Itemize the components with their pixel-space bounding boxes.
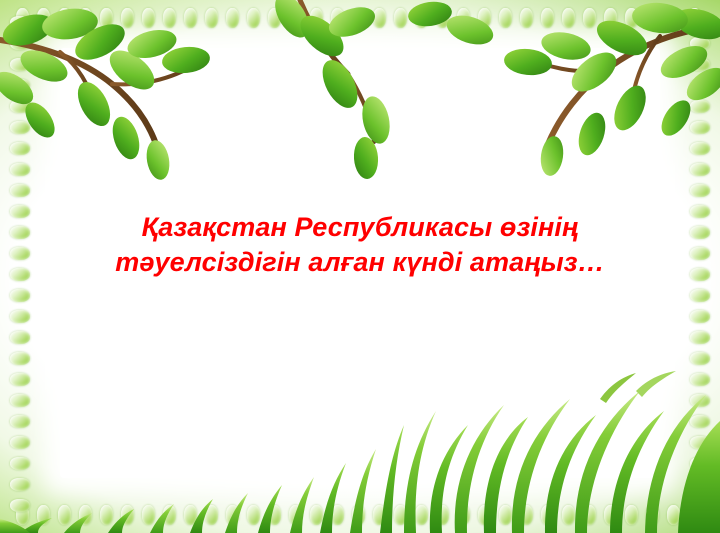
slide-title: Қазақстан Республикасы өзінің тәуелсізді… (70, 210, 650, 279)
title-line-1: Қазақстан Республикасы өзінің (70, 210, 650, 245)
title-line-2: тәуелсіздігін алған күнді атаңыз… (70, 245, 650, 280)
slide-canvas: Қазақстан Республикасы өзінің тәуелсізді… (0, 0, 720, 533)
